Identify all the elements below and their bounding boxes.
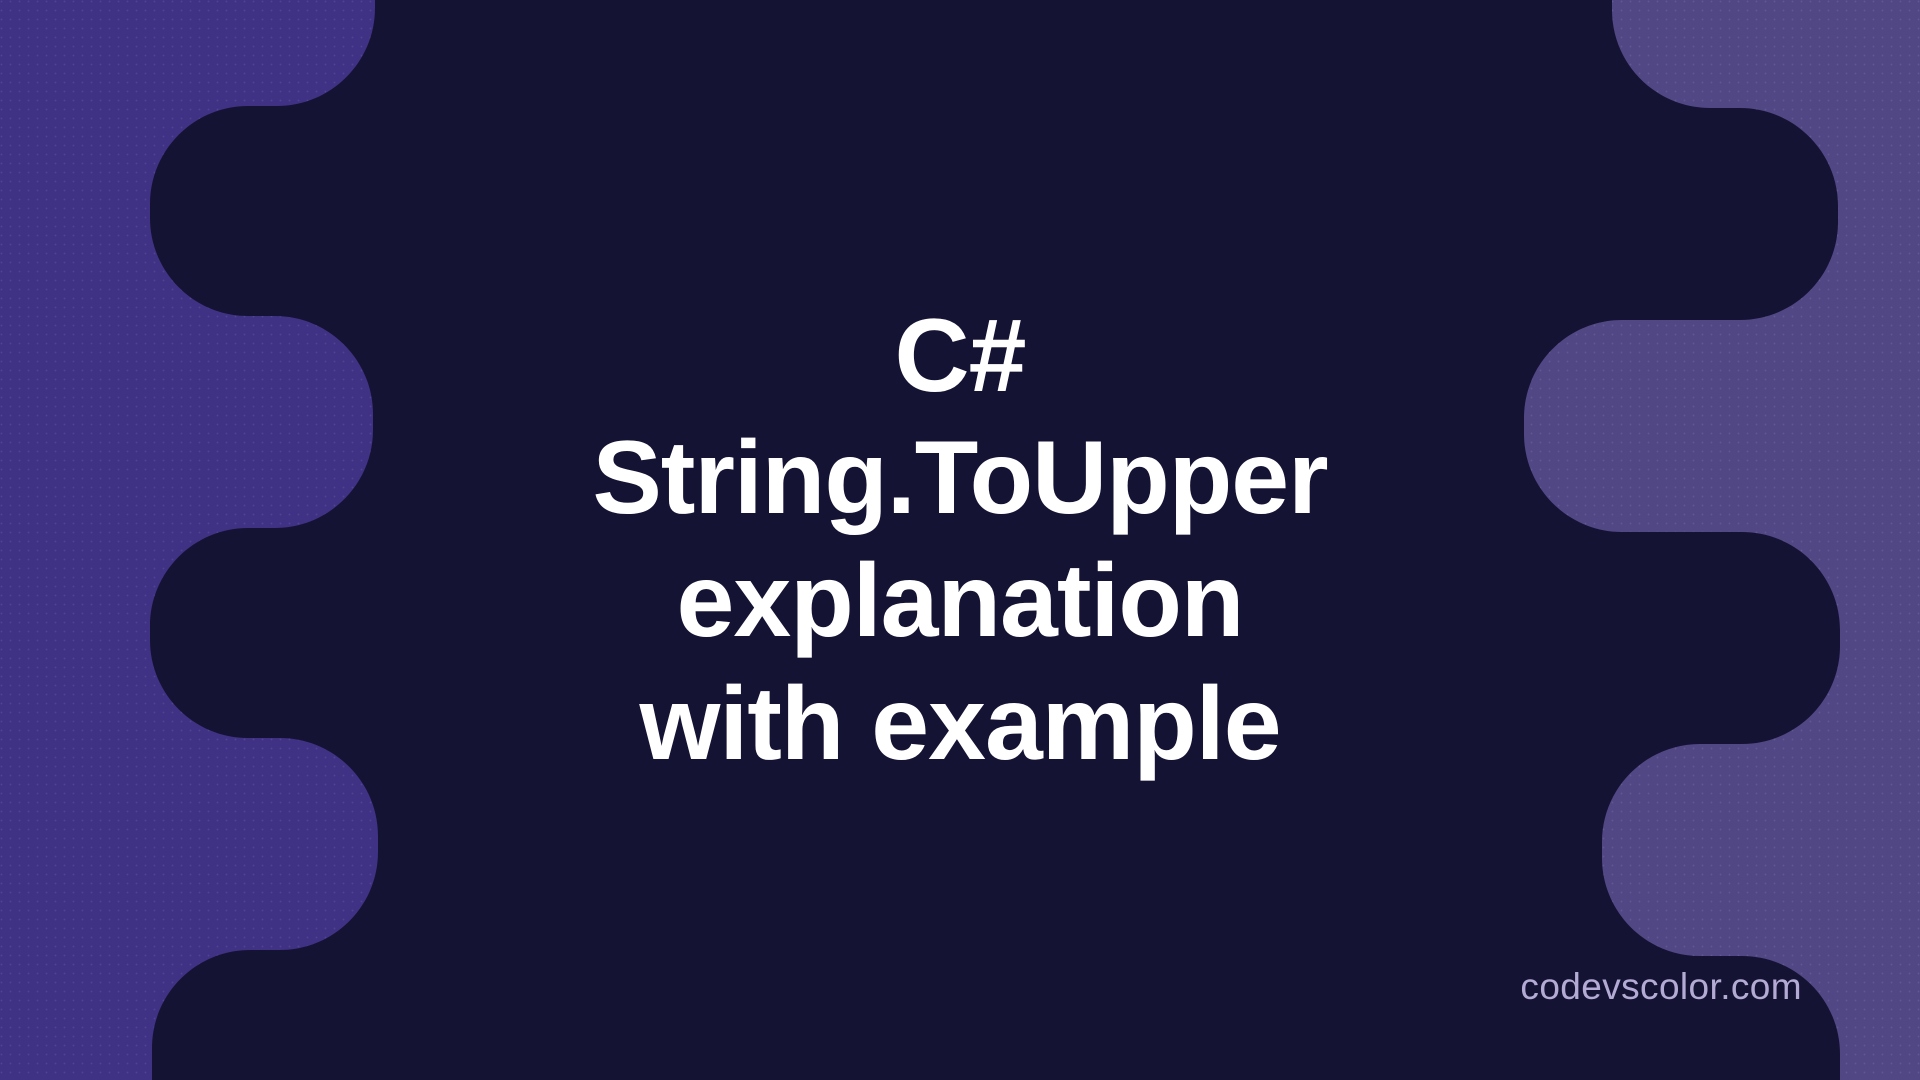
title-line-3: explanation (592, 540, 1327, 663)
title-line-2: String.ToUpper (592, 417, 1327, 540)
site-watermark: codevscolor.com (1520, 966, 1802, 1008)
banner-canvas: C# String.ToUpper explanation with examp… (0, 0, 1920, 1080)
title-block: C# String.ToUpper explanation with examp… (0, 0, 1920, 1080)
page-title: C# String.ToUpper explanation with examp… (592, 295, 1327, 786)
title-line-1: C# (592, 295, 1327, 418)
title-line-4: with example (592, 663, 1327, 786)
